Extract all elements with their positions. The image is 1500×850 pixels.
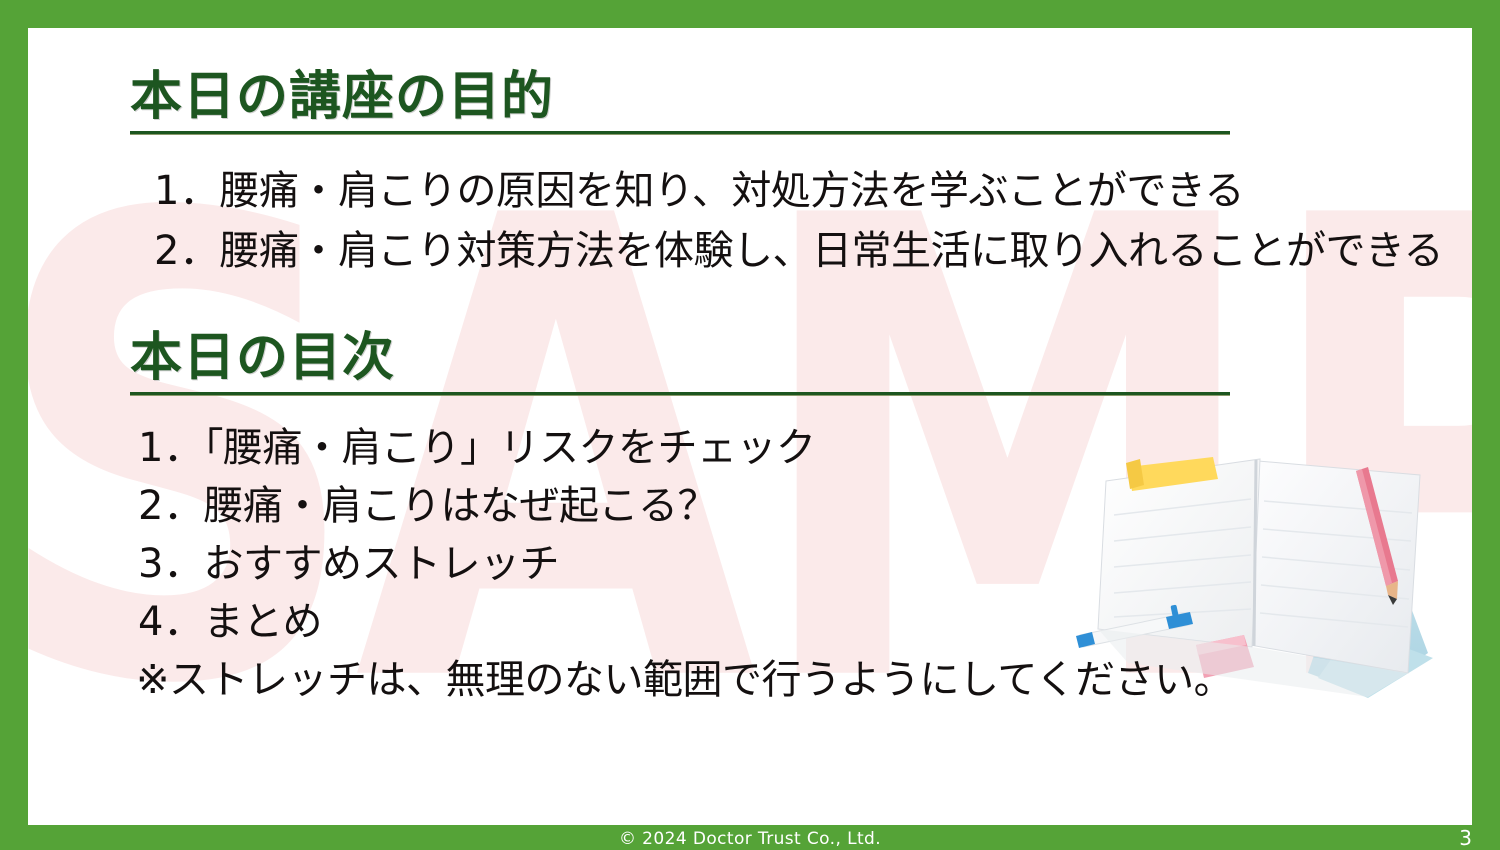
agenda-heading-block: 本日の目次 (130, 331, 1230, 396)
agenda-item-2: 2．腰痛・肩こりはなぜ起こる？ (138, 486, 717, 526)
purpose-heading: 本日の講座の目的 (130, 70, 1230, 125)
agenda-item-3-text: おすすめストレッチ (203, 541, 559, 587)
agenda-heading-rule (130, 392, 1230, 396)
purpose-item-2: 2．腰痛・肩こり対策方法を体験し、日常生活に取り入れることができる (154, 231, 1443, 271)
purpose-heading-rule (130, 131, 1230, 135)
footer-copyright: © 2024 Doctor Trust Co., Ltd. (0, 829, 1500, 849)
purpose-item-1-text: 腰痛・肩こりの原因を知り、対処方法を学ぶことができる (219, 168, 1244, 214)
agenda-heading: 本日の目次 (130, 331, 1230, 386)
slide: SAMPLE (0, 0, 1500, 850)
agenda-item-4-text: まとめ (203, 599, 322, 645)
slide-canvas: SAMPLE (28, 28, 1472, 825)
page-number: 3 (1459, 826, 1472, 850)
agenda-item-2-text: 腰痛・肩こりはなぜ起こる？ (203, 483, 717, 529)
agenda-item-4: 4．まとめ (138, 602, 322, 642)
slide-content: 本日の講座の目的 1．腰痛・肩こりの原因を知り、対処方法を学ぶことができる 2．… (28, 28, 1472, 825)
purpose-item-1: 1．腰痛・肩こりの原因を知り、対処方法を学ぶことができる (154, 171, 1244, 211)
agenda-item-2-number: 2． (138, 483, 203, 529)
agenda-item-4-number: 4． (138, 599, 203, 645)
purpose-item-2-text: 腰痛・肩こり対策方法を体験し、日常生活に取り入れることができる (219, 228, 1443, 274)
agenda-item-1-text: 「腰痛・肩こり」リスクをチェック (203, 425, 815, 471)
agenda-note: ※ストレッチは、無理のない範囲で行うようにしてください。 (136, 660, 1233, 700)
agenda-item-3: 3．おすすめストレッチ (138, 544, 559, 584)
agenda-item-3-number: 3． (138, 541, 203, 587)
purpose-heading-block: 本日の講座の目的 (130, 70, 1230, 135)
agenda-item-1-number: 1． (138, 425, 203, 471)
agenda-item-1: 1．「腰痛・肩こり」リスクをチェック (138, 428, 815, 468)
purpose-item-2-number: 2． (154, 228, 219, 274)
purpose-item-1-number: 1． (154, 168, 219, 214)
